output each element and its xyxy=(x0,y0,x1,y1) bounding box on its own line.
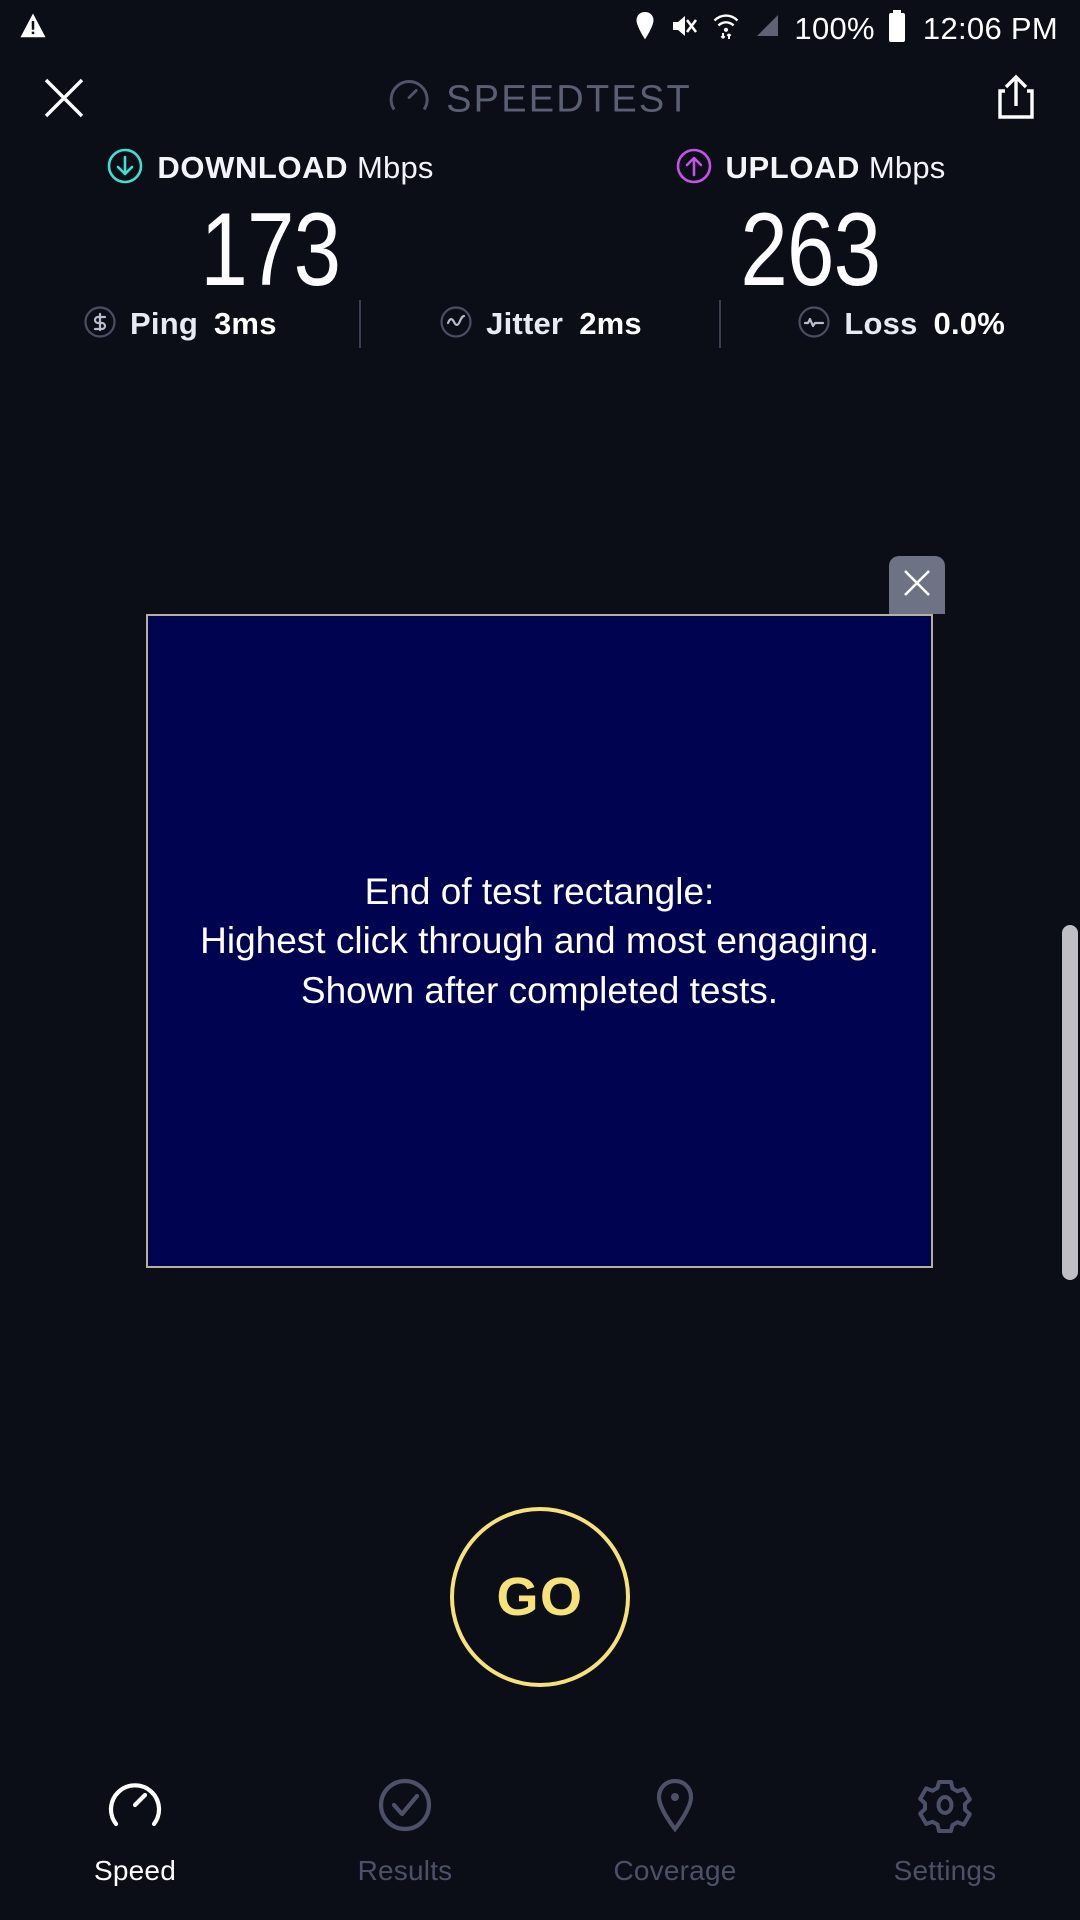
upload-label-strong: UPLOAD xyxy=(726,150,861,185)
nav-item-coverage[interactable]: Coverage xyxy=(540,1774,810,1887)
loss-label: Loss xyxy=(844,306,917,342)
warning-triangle-icon xyxy=(18,11,48,46)
upload-label: UPLOAD Mbps xyxy=(726,150,946,186)
nav-item-speed[interactable]: Speed xyxy=(0,1774,270,1887)
upload-value: 263 xyxy=(740,196,880,305)
battery-percent-label: 100% xyxy=(794,13,875,44)
connection-stats-row: Ping 3ms Jitter 2ms Loss 0.0% xyxy=(0,296,1080,352)
wifi-transfer-icon xyxy=(712,11,740,46)
download-label: DOWNLOAD Mbps xyxy=(157,150,433,186)
status-bar-left xyxy=(18,11,48,46)
map-pin-icon xyxy=(644,1774,706,1841)
share-button[interactable] xyxy=(984,68,1048,132)
ping-exchange-icon xyxy=(82,304,118,345)
speedometer-icon xyxy=(104,1774,166,1841)
advertisement-container: End of test rectangle: Highest click thr… xyxy=(146,614,933,1268)
jitter-stat: Jitter 2ms xyxy=(361,304,720,345)
nav-label-results: Results xyxy=(358,1855,453,1887)
loss-value: 0.0% xyxy=(934,306,1005,342)
download-upload-row: DOWNLOAD Mbps 173 UPLOAD xyxy=(0,146,1080,305)
nav-label-coverage: Coverage xyxy=(613,1855,736,1887)
speedometer-icon xyxy=(388,77,430,124)
ping-label: Ping xyxy=(130,306,198,342)
advertisement-banner[interactable]: End of test rectangle: Highest click thr… xyxy=(146,614,933,1268)
jitter-value: 2ms xyxy=(579,306,642,342)
download-header: DOWNLOAD Mbps xyxy=(106,146,433,190)
speedtest-app-screen: 100% 12:06 PM SPEEDTEST xyxy=(0,0,1080,1920)
brand-logo: SPEEDTEST xyxy=(388,77,692,124)
go-button-label: GO xyxy=(496,1566,583,1628)
location-pin-icon xyxy=(632,11,658,46)
download-arrow-circle-icon xyxy=(106,147,144,190)
status-bar-clock: 12:06 PM xyxy=(923,13,1058,44)
brand-title: SPEEDTEST xyxy=(446,79,692,122)
ad-line-1: End of test rectangle: xyxy=(200,867,879,916)
upload-header: UPLOAD Mbps xyxy=(675,146,946,190)
status-bar: 100% 12:06 PM xyxy=(0,0,1080,56)
close-button[interactable] xyxy=(32,68,96,132)
nav-label-speed: Speed xyxy=(94,1855,176,1887)
advertisement-text: End of test rectangle: Highest click thr… xyxy=(200,867,879,1015)
ad-line-2: Highest click through and most engaging. xyxy=(200,916,879,965)
speed-results: DOWNLOAD Mbps 173 UPLOAD xyxy=(0,146,1080,305)
upload-metric: UPLOAD Mbps 263 xyxy=(540,146,1080,305)
close-icon xyxy=(41,75,87,126)
volume-muted-icon xyxy=(670,11,700,46)
check-circle-icon xyxy=(374,1774,436,1841)
download-label-strong: DOWNLOAD xyxy=(157,150,348,185)
upload-arrow-circle-icon xyxy=(675,147,713,190)
ad-close-icon xyxy=(900,566,934,605)
nav-item-settings[interactable]: Settings xyxy=(810,1774,1080,1887)
loss-pulse-icon xyxy=(796,304,832,345)
nav-item-results[interactable]: Results xyxy=(270,1774,540,1887)
cell-signal-icon xyxy=(752,11,782,46)
download-metric: DOWNLOAD Mbps 173 xyxy=(0,146,540,305)
jitter-label: Jitter xyxy=(486,306,563,342)
status-bar-right: 100% 12:06 PM xyxy=(632,10,1058,47)
gear-icon xyxy=(914,1774,976,1841)
ad-close-button[interactable] xyxy=(889,556,945,614)
app-header: SPEEDTEST xyxy=(0,56,1080,144)
vertical-scrollbar[interactable] xyxy=(1062,925,1078,1280)
upload-label-unit: Mbps xyxy=(869,150,946,185)
bottom-navigation: Speed Results Coverage xyxy=(0,1760,1080,1920)
jitter-wave-icon xyxy=(438,304,474,345)
download-label-unit: Mbps xyxy=(357,150,434,185)
ping-value: 3ms xyxy=(214,306,277,342)
share-icon xyxy=(993,73,1039,128)
ad-line-3: Shown after completed tests. xyxy=(200,966,879,1015)
nav-label-settings: Settings xyxy=(894,1855,997,1887)
loss-stat: Loss 0.0% xyxy=(721,304,1080,345)
battery-full-icon xyxy=(887,10,907,47)
download-value: 173 xyxy=(200,196,340,305)
go-button[interactable]: GO xyxy=(450,1507,630,1687)
ping-stat: Ping 3ms xyxy=(0,304,359,345)
